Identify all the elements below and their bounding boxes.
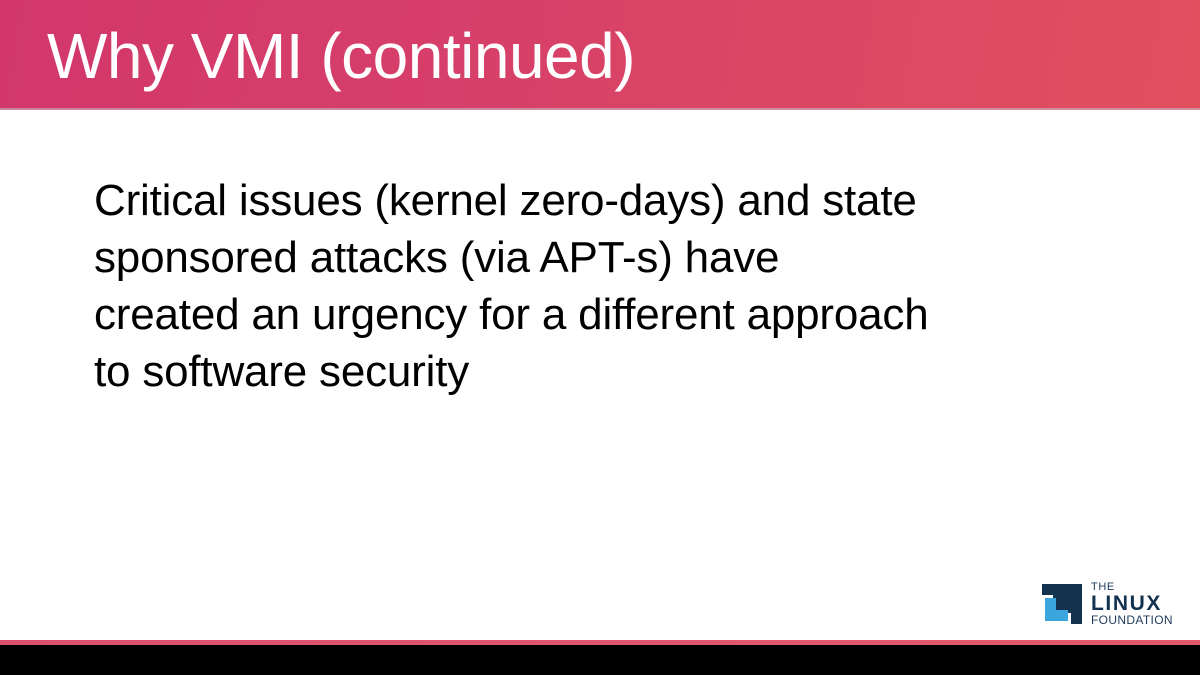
page-title: Why VMI (continued) [47, 16, 635, 96]
slide-header-band: Why VMI (continued) [0, 0, 1200, 110]
body-line: sponsored attacks (via APT-s) have [94, 229, 1044, 286]
presentation-slide: Why VMI (continued) Critical issues (ker… [0, 0, 1200, 675]
linux-foundation-logo: THE LINUX FOUNDATION [1040, 581, 1173, 627]
header-divider [0, 108, 1200, 110]
body-line: Critical issues (kernel zero-days) and s… [94, 172, 1044, 229]
body-line: to software security [94, 343, 1044, 400]
linux-foundation-mark-icon [1040, 582, 1084, 626]
logo-text-foundation: FOUNDATION [1091, 614, 1173, 627]
slide-body-text: Critical issues (kernel zero-days) and s… [94, 172, 1044, 400]
footer-bar [0, 645, 1200, 675]
linux-foundation-wordmark: THE LINUX FOUNDATION [1091, 581, 1173, 627]
body-line: created an urgency for a different appro… [94, 286, 1044, 343]
logo-text-linux: LINUX [1091, 593, 1173, 614]
